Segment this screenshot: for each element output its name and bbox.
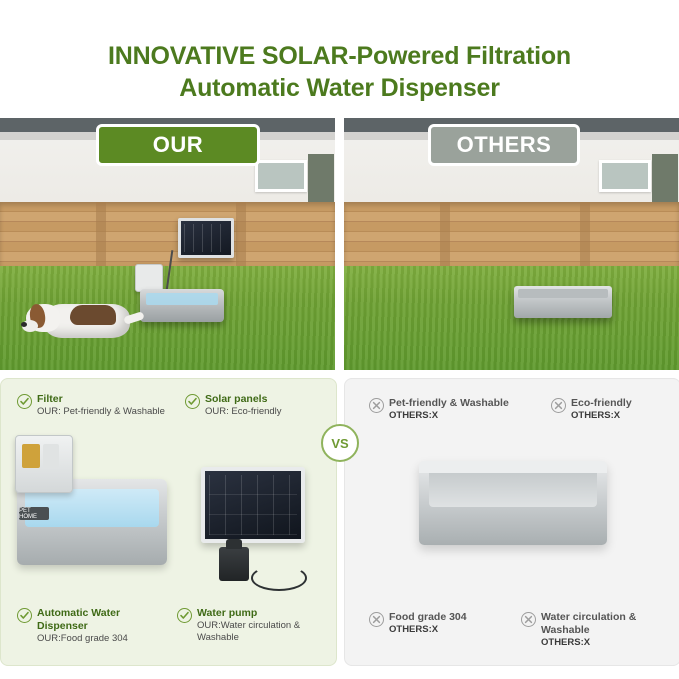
check-icon <box>17 394 32 409</box>
feature-detail: OUR:Food grade 304 <box>37 633 165 645</box>
pump-cord <box>251 565 307 591</box>
pump-nozzle <box>226 539 242 549</box>
dog-photo <box>24 282 140 342</box>
wooden-fence <box>0 202 335 266</box>
headline-line-2: Automatic Water Dispenser <box>0 72 679 104</box>
photo-comparison-row: OUR OTHERS <box>0 118 679 370</box>
feature-our-solar-panels: Solar panels OUR: Eco-friendly <box>185 393 325 418</box>
feature-text: Food grade 304 OTHERS:X <box>389 611 467 636</box>
feature-title: Eco-friendly <box>571 397 632 410</box>
tag-others: OTHERS <box>428 124 580 166</box>
dog-saddle-marking <box>70 305 116 325</box>
feature-detail: OUR: Eco-friendly <box>205 406 282 418</box>
fence-post <box>440 202 450 266</box>
feature-text: Solar panels OUR: Eco-friendly <box>205 393 282 418</box>
brand-badge: PET HOME <box>19 507 49 520</box>
feature-text: Automatic Water Dispenser OUR:Food grade… <box>37 607 165 645</box>
headline-line-1: INNOVATIVE SOLAR-Powered Filtration <box>0 40 679 72</box>
solar-panel-illustration <box>201 467 305 543</box>
fence-post <box>580 202 590 266</box>
plain-basin-photo <box>514 286 612 318</box>
x-icon <box>521 612 536 627</box>
feature-detail: OTHERS:X <box>389 624 467 636</box>
check-icon <box>177 608 192 623</box>
tag-our: OUR <box>96 124 260 166</box>
lawn <box>344 266 679 370</box>
feature-title: Water circulation & Washable <box>541 611 671 637</box>
x-icon <box>551 398 566 413</box>
feature-comparison-row: VS Filter OUR: Pet-friendly & Washable S… <box>0 378 679 668</box>
feature-others-food-grade: Food grade 304 OTHERS:X <box>369 611 509 636</box>
filter-cartridge <box>43 444 59 468</box>
x-icon <box>369 612 384 627</box>
feature-title: Water pump <box>197 607 327 620</box>
feature-title: Food grade 304 <box>389 611 467 624</box>
vs-badge: VS <box>321 424 359 462</box>
feature-text: Water circulation & Washable OTHERS:X <box>541 611 671 649</box>
solar-panel-photo <box>178 218 234 258</box>
fence-post <box>96 202 106 266</box>
feature-title: Filter <box>37 393 165 406</box>
feature-our-filter: Filter OUR: Pet-friendly & Washable <box>17 393 167 418</box>
house-window <box>255 160 307 192</box>
wooden-fence <box>344 202 679 266</box>
feature-detail: OUR: Pet-friendly & Washable <box>37 406 165 418</box>
feature-title: Pet-friendly & Washable <box>389 397 509 410</box>
water-surface <box>146 293 218 305</box>
page-title: INNOVATIVE SOLAR-Powered Filtration Auto… <box>0 40 679 104</box>
basin-interior <box>429 469 597 507</box>
fence-post <box>236 202 246 266</box>
house-window <box>599 160 651 192</box>
product-comparison-image: INNOVATIVE SOLAR-Powered Filtration Auto… <box>0 0 679 679</box>
feature-others-eco-friendly: Eco-friendly OTHERS:X <box>551 397 669 422</box>
check-icon <box>185 394 200 409</box>
feature-our-water-pump: Water pump OUR:Water circulation & Washa… <box>177 607 327 644</box>
plain-basin-illustration <box>419 461 607 545</box>
feature-text: Water pump OUR:Water circulation & Washa… <box>197 607 327 644</box>
feature-title: Solar panels <box>205 393 282 406</box>
water-pump-illustration <box>219 547 249 581</box>
dog-nose <box>21 322 27 327</box>
feature-others-water-circulation: Water circulation & Washable OTHERS:X <box>521 611 671 649</box>
feature-others-pet-friendly: Pet-friendly & Washable OTHERS:X <box>369 397 519 422</box>
feature-detail: OUR:Water circulation & Washable <box>197 620 327 644</box>
our-product-card: Filter OUR: Pet-friendly & Washable Sola… <box>0 378 337 666</box>
basin-rim <box>419 461 607 473</box>
feature-text: Pet-friendly & Washable OTHERS:X <box>389 397 509 422</box>
feature-detail: OTHERS:X <box>541 637 671 649</box>
feature-title: Automatic Water Dispenser <box>37 607 165 633</box>
filter-sponge <box>22 444 40 468</box>
x-icon <box>369 398 384 413</box>
filter-illustration <box>15 435 73 493</box>
other-product-card: Pet-friendly & Washable OTHERS:X Eco-fri… <box>344 378 679 666</box>
feature-text: Eco-friendly OTHERS:X <box>571 397 632 422</box>
feature-detail: OTHERS:X <box>389 410 509 422</box>
feature-text: Filter OUR: Pet-friendly & Washable <box>37 393 165 418</box>
check-icon <box>17 608 32 623</box>
feature-our-dispenser: Automatic Water Dispenser OUR:Food grade… <box>17 607 165 645</box>
water-dispenser-photo <box>140 289 224 322</box>
feature-detail: OTHERS:X <box>571 410 632 422</box>
